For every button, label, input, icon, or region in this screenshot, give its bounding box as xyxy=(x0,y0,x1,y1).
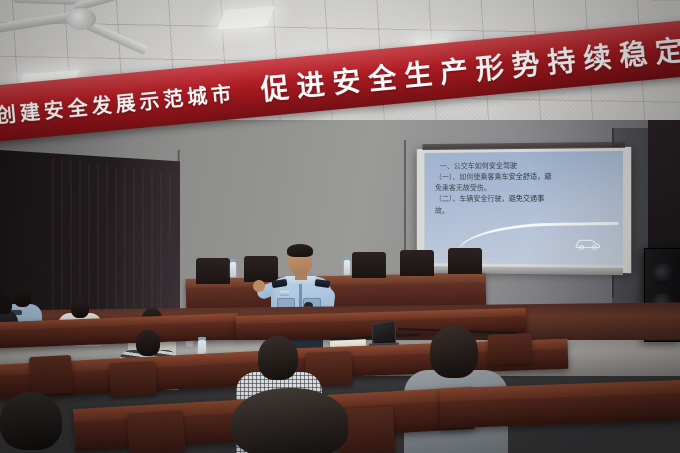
speaker-left-hand xyxy=(253,280,265,292)
chair xyxy=(127,410,186,453)
attendee-dark-shirt xyxy=(232,388,348,453)
chair xyxy=(29,355,73,395)
banner-spacer xyxy=(235,89,261,91)
attendee-head xyxy=(0,296,12,314)
slide-line: 故。 xyxy=(435,205,601,216)
attendee-head xyxy=(258,336,298,380)
chair xyxy=(448,248,482,274)
slide-line: 免乘客无故受伤。 xyxy=(435,182,601,194)
fan-blade xyxy=(0,12,73,36)
fan-blade xyxy=(14,0,78,5)
bottle-cap xyxy=(230,259,236,262)
meeting-hall-photo: 一、公交车如何安全驾驶 （一）、如何使乘客乘车安全舒适，避 免乘客无故受伤。 （… xyxy=(0,0,680,453)
attendee-head xyxy=(232,388,348,453)
speaker-cone xyxy=(652,263,674,285)
audience-desk xyxy=(439,379,680,428)
attendee-head xyxy=(0,392,62,450)
speaker-badge xyxy=(280,291,289,296)
slide-line: （一）、如何使乘客乘车安全舒适，避 xyxy=(435,171,601,183)
chair xyxy=(352,252,386,278)
chair xyxy=(109,361,157,397)
fan-hub xyxy=(66,8,96,30)
banner-left-text: 创建安全发展示范城市 xyxy=(0,77,236,128)
attendee-head xyxy=(136,330,160,356)
slide-line: （二）、车辆安全行驶，避免交通事 xyxy=(435,193,601,204)
attendee-head xyxy=(71,298,89,318)
chair xyxy=(400,250,434,276)
water-bottle xyxy=(230,262,236,277)
bottle-cap xyxy=(198,337,206,340)
attendee-head xyxy=(430,326,478,378)
slide-text-block: 一、公交车如何安全驾驶 （一）、如何使乘客乘车安全舒适，避 免乘客无故受伤。 （… xyxy=(435,159,601,216)
chair xyxy=(196,258,230,284)
attendee-dark-shirt xyxy=(0,392,72,453)
screen-roller xyxy=(423,142,626,150)
speaker-hair xyxy=(287,244,313,257)
car-icon xyxy=(574,237,600,250)
ceiling-light-panel xyxy=(217,6,275,29)
ceiling-fan-icon xyxy=(0,0,144,58)
